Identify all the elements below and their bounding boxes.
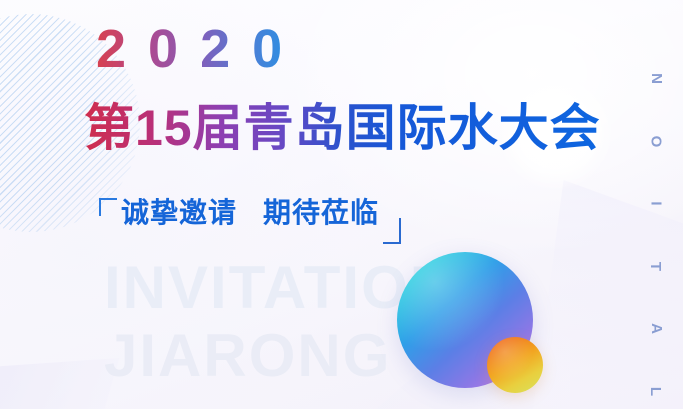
- small-gradient-sphere: [487, 337, 543, 393]
- side-letter-a: A: [648, 323, 665, 334]
- close-bracket-icon: [385, 198, 401, 244]
- vertical-side-word: N O I T A L: [643, 70, 669, 400]
- watermark-jiarong: JIARONG: [104, 326, 391, 386]
- side-letter-n: N: [648, 73, 665, 84]
- page-title: 第15届青岛国际水大会: [84, 101, 601, 155]
- invitation-phrase: 诚挚邀请期待莅临: [99, 198, 401, 244]
- invitation-phrase-2: 期待莅临: [263, 197, 379, 228]
- open-bracket-icon: [99, 198, 115, 244]
- side-letter-o: O: [647, 135, 664, 147]
- invitation-poster: INVITATION JIARONG N O I T A L 2020 第15届…: [0, 0, 683, 409]
- year-heading: 2020: [96, 22, 304, 76]
- side-letter-t: T: [647, 262, 664, 271]
- invitation-phrase-1: 诚挚邀请: [121, 197, 237, 228]
- side-letter-l: L: [647, 387, 664, 396]
- side-letter-i: I: [647, 202, 664, 206]
- invitation-phrase-text: 诚挚邀请期待莅临: [115, 198, 385, 227]
